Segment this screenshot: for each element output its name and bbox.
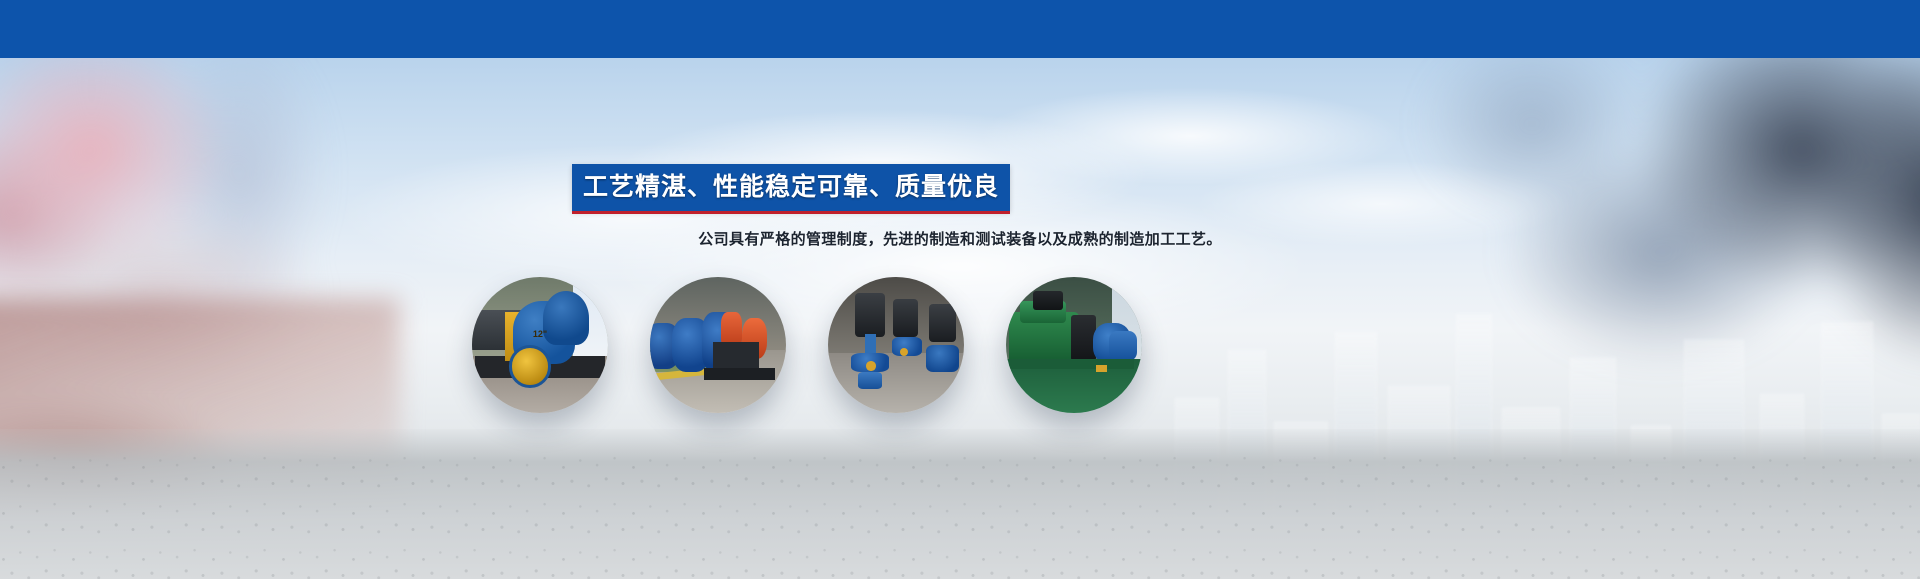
gallery-item-split-case-pump[interactable]: 12" — [472, 277, 608, 413]
top-navigation-bar[interactable] — [0, 0, 1920, 58]
gallery-item-slurry-pump-row[interactable] — [650, 277, 786, 413]
hero-banner: 工艺精湛、性能稳定可靠、质量优良 公司具有严格的管理制度，先进的制造和测试装备以… — [0, 0, 1920, 579]
headline-plate: 工艺精湛、性能稳定可靠、质量优良 — [572, 164, 1010, 211]
gallery-item-diesel-engine-pump-set[interactable] — [1006, 277, 1142, 413]
pump-size-badge: 12" — [472, 329, 608, 339]
product-photo-gallery: 12" — [0, 0, 1920, 579]
hero-subtitle: 公司具有严格的管理制度，先进的制造和测试装备以及成熟的制造加工工艺。 — [0, 228, 1920, 249]
gallery-item-vertical-inline-pumps[interactable] — [828, 277, 964, 413]
headline-text: 工艺精湛、性能稳定可靠、质量优良 — [572, 164, 1010, 211]
